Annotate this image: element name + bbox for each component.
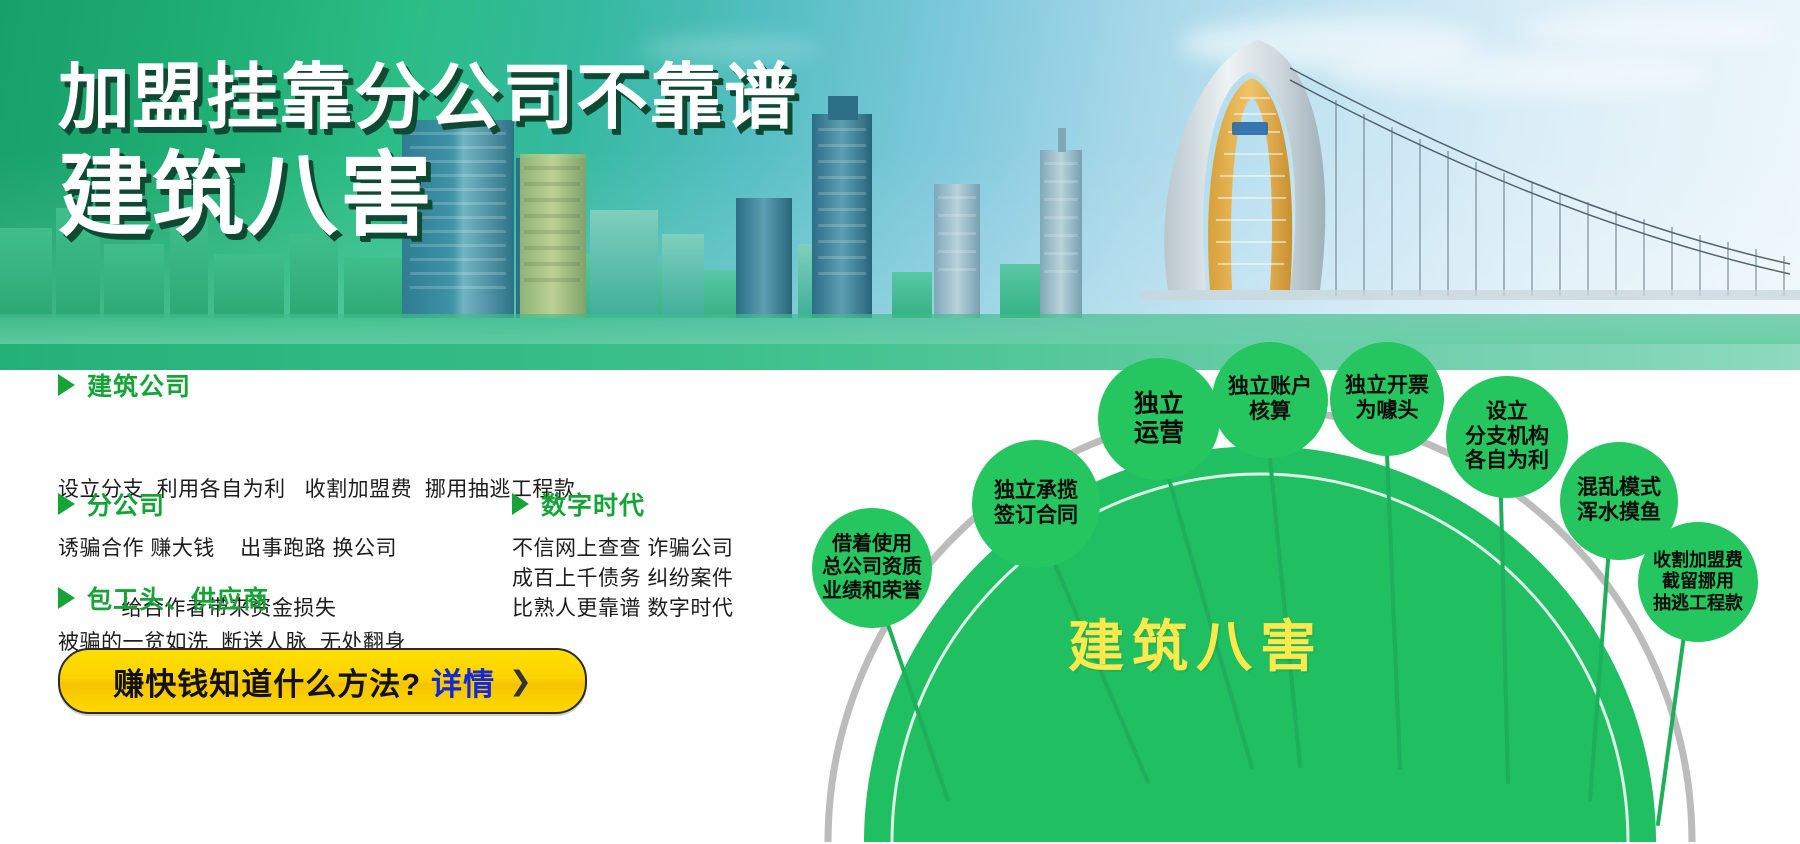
triangle-bullet-icon (58, 587, 75, 609)
triangle-bullet-icon (58, 374, 75, 396)
hero-banner: 加盟挂靠分公司不靠谱 建筑八害 (0, 0, 1800, 370)
chevron-right-icon: ❯ (509, 666, 532, 697)
section-title: 建筑公司 (87, 367, 191, 403)
poster-root: 加盟挂靠分公司不靠谱 建筑八害 建筑公司 设立分支 利用各自为利 收割加盟费 挪… (0, 0, 1800, 844)
dome-label: 建筑八害 (1068, 602, 1324, 683)
cta-main-label: 赚快钱知道什么方法? (113, 659, 421, 704)
triangle-bullet-icon (512, 493, 529, 515)
cta-detail-link[interactable]: 详情 (431, 659, 495, 704)
section-contractor-supplier: 包工头、供应商 被骗的一贫如洗 断送人脉 无处翻身 (58, 580, 406, 658)
section-header: 数字时代 (512, 486, 733, 522)
section-header: 包工头、供应商 (58, 580, 406, 616)
section-body: 不信网上查查 诈骗公司 成百上千债务 纠纷案件 比熟人更靠谱 数字时代 (512, 534, 733, 623)
section-title: 包工头、供应商 (87, 580, 269, 616)
title-line-2: 建筑八害 (58, 150, 798, 242)
page-title: 加盟挂靠分公司不靠谱 建筑八害 (58, 62, 798, 242)
left-content: 建筑公司 设立分支 利用各自为利 收割加盟费 挪用抽逃工程款 给合作者带来资金损… (0, 376, 800, 844)
title-line-1: 加盟挂靠分公司不靠谱 (58, 62, 798, 134)
bridge-illustration (1140, 28, 1800, 318)
bubble-item: 借着使用 总公司资质 业绩和荣誉 (812, 508, 932, 628)
section-header: 建筑公司 (58, 367, 575, 403)
bubble-item: 独立开票 为噱头 (1330, 342, 1444, 456)
section-digital-era: 数字时代 不信网上查查 诈骗公司 成百上千债务 纠纷案件 比熟人更靠谱 数字时代 (512, 486, 733, 623)
bubble-item: 独立账户 核算 (1212, 342, 1328, 458)
bubble-item: 独立承揽 签订合同 (972, 440, 1100, 568)
cta-button[interactable]: 赚快钱知道什么方法? 详情 ❯ (58, 648, 587, 714)
bubble-item: 收割加盟费 截留挪用 抽逃工程款 (1638, 522, 1758, 642)
section-header: 分公司 (58, 486, 397, 522)
section-title: 数字时代 (541, 486, 645, 522)
section-body: 诱骗合作 赚大钱 出事跑路 换公司 (58, 534, 397, 564)
bubble-item: 独立 运营 (1098, 358, 1220, 480)
section-branch-company: 分公司 诱骗合作 赚大钱 出事跑路 换公司 (58, 486, 397, 564)
section-title: 分公司 (87, 486, 165, 522)
bubble-item: 设立 分支机构 各自为利 (1446, 376, 1568, 498)
triangle-bullet-icon (58, 493, 75, 515)
bubble-diagram: 借着使用 总公司资质 业绩和荣誉 独立承揽 签订合同 独立 运营 独立账户 核算… (800, 330, 1800, 844)
